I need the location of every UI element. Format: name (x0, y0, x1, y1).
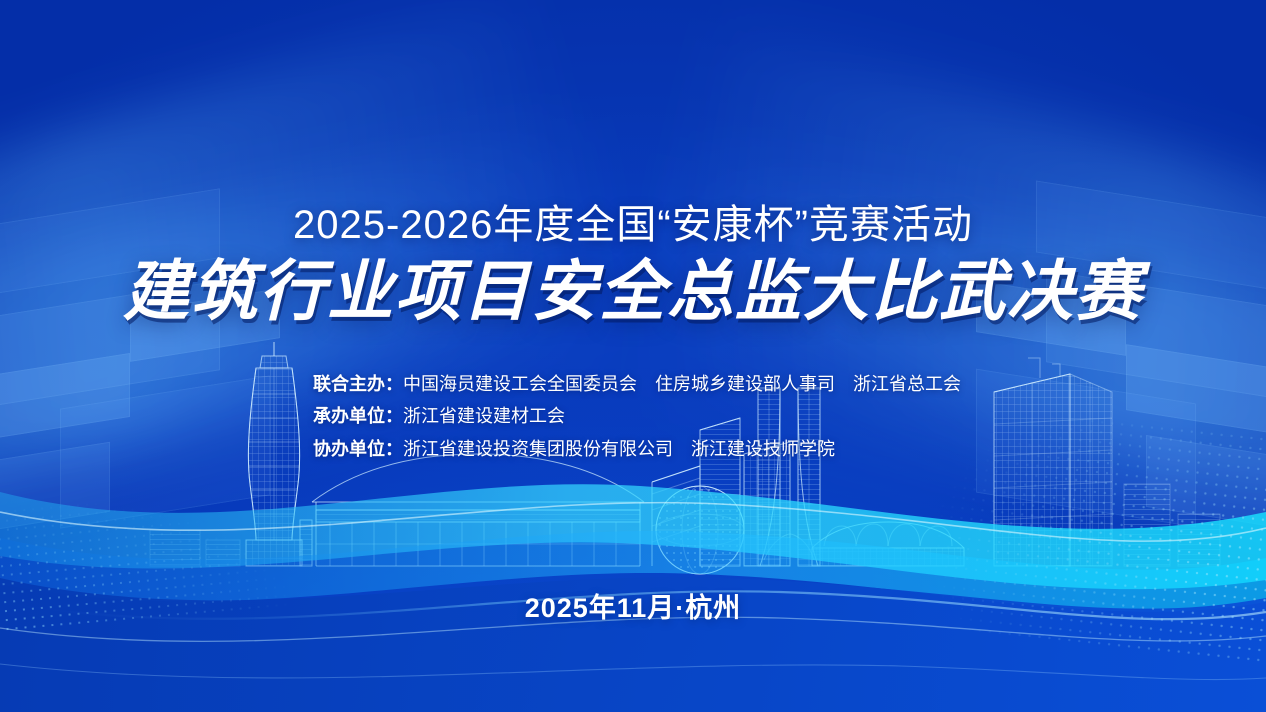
organizer-value: 浙江省建设投资集团股份有限公司 浙江建设技师学院 (403, 439, 835, 459)
organizer-list: 联合主办：中国海员建设工会全国委员会 住房城乡建设部人事司 浙江省总工会 承办单… (0, 372, 1266, 461)
organizer-label: 协办单位： (313, 439, 403, 459)
organizer-label: 承办单位： (313, 406, 403, 426)
event-main-title: 建筑行业项目安全总监大比武决赛 (0, 258, 1266, 324)
organizer-value: 中国海员建设工会全国委员会 住房城乡建设部人事司 浙江省总工会 (403, 374, 961, 394)
organizer-row: 联合主办：中国海员建设工会全国委员会 住房城乡建设部人事司 浙江省总工会 (313, 372, 953, 396)
event-banner: 2025-2026年度全国“安康杯”竞赛活动 建筑行业项目安全总监大比武决赛 联… (0, 0, 1266, 712)
organizer-row: 承办单位：浙江省建设建材工会 (313, 404, 953, 428)
banner-content: 2025-2026年度全国“安康杯”竞赛活动 建筑行业项目安全总监大比武决赛 联… (0, 0, 1266, 712)
event-subtitle: 2025-2026年度全国“安康杯”竞赛活动 (0, 192, 1266, 250)
organizer-row: 协办单位：浙江省建设投资集团股份有限公司 浙江建设技师学院 (313, 437, 953, 461)
event-date-location: 2025年11月·杭州 (0, 586, 1266, 625)
organizer-value: 浙江省建设建材工会 (403, 406, 565, 426)
organizer-label: 联合主办： (313, 374, 403, 394)
